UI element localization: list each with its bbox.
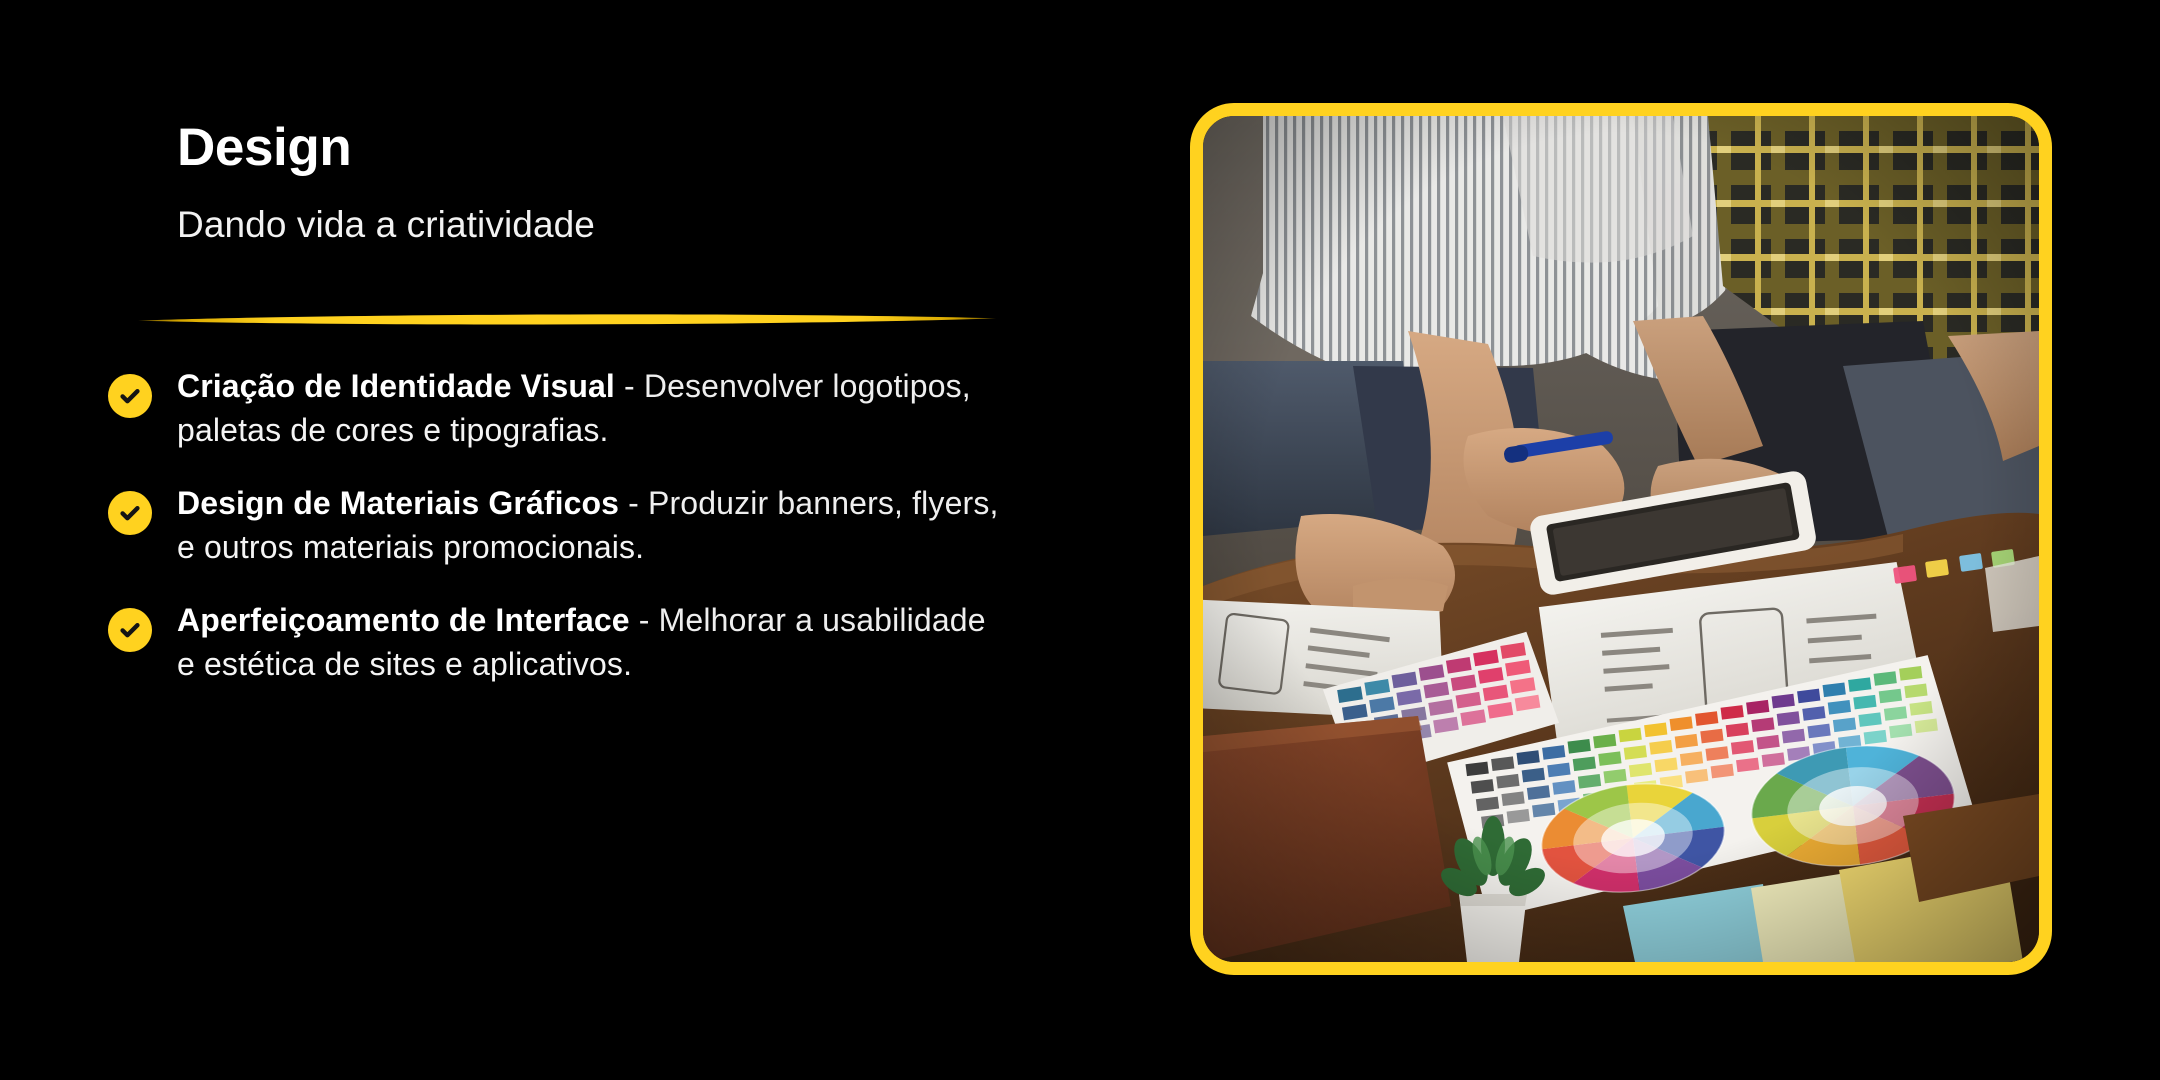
list-item-line2: e outros materiais promocionais. (177, 526, 1108, 570)
list-item-tail: Produzir banners, flyers, (648, 485, 999, 521)
list-item-line2: e estética de sites e aplicativos. (177, 643, 1108, 687)
photo-frame (1190, 103, 2052, 975)
list-item: Design de Materiais Gráficos - Produzir … (108, 482, 1108, 569)
list-item-text: Design de Materiais Gráficos - Produzir … (177, 482, 1108, 569)
left-content-column: Design Dando vida a criatividade (177, 120, 1057, 246)
list-item-tail: Melhorar a usabilidade (659, 602, 986, 638)
list-item-text: Aperfeiçoamento de Interface - Melhorar … (177, 599, 1108, 686)
divider (138, 303, 996, 337)
list-item-dash: - (630, 602, 659, 638)
list-item-lead: Design de Materiais Gráficos (177, 485, 619, 521)
list-item-lead: Aperfeiçoamento de Interface (177, 602, 630, 638)
list-item-tail: Desenvolver logotipos, (644, 368, 971, 404)
list-item-dash: - (619, 485, 648, 521)
divider-lens-shape (138, 314, 996, 324)
design-team-workspace-photo (1203, 116, 2039, 962)
check-circle-icon (108, 608, 152, 652)
list-item-dash: - (615, 368, 644, 404)
list-item-lead: Criação de Identidade Visual (177, 368, 615, 404)
page-subtitle: Dando vida a criatividade (177, 204, 1057, 247)
list-item-line2: paletas de cores e tipografias. (177, 409, 1108, 453)
check-circle-icon (108, 374, 152, 418)
list-item: Aperfeiçoamento de Interface - Melhorar … (108, 599, 1108, 686)
page-title: Design (177, 120, 1057, 176)
list-item-text: Criação de Identidade Visual - Desenvolv… (177, 365, 1108, 452)
list-item: Criação de Identidade Visual - Desenvolv… (108, 365, 1108, 452)
feature-list: Criação de Identidade Visual - Desenvolv… (108, 365, 1108, 686)
slide-root: Design Dando vida a criatividade (0, 0, 2160, 1080)
check-circle-icon (108, 491, 152, 535)
